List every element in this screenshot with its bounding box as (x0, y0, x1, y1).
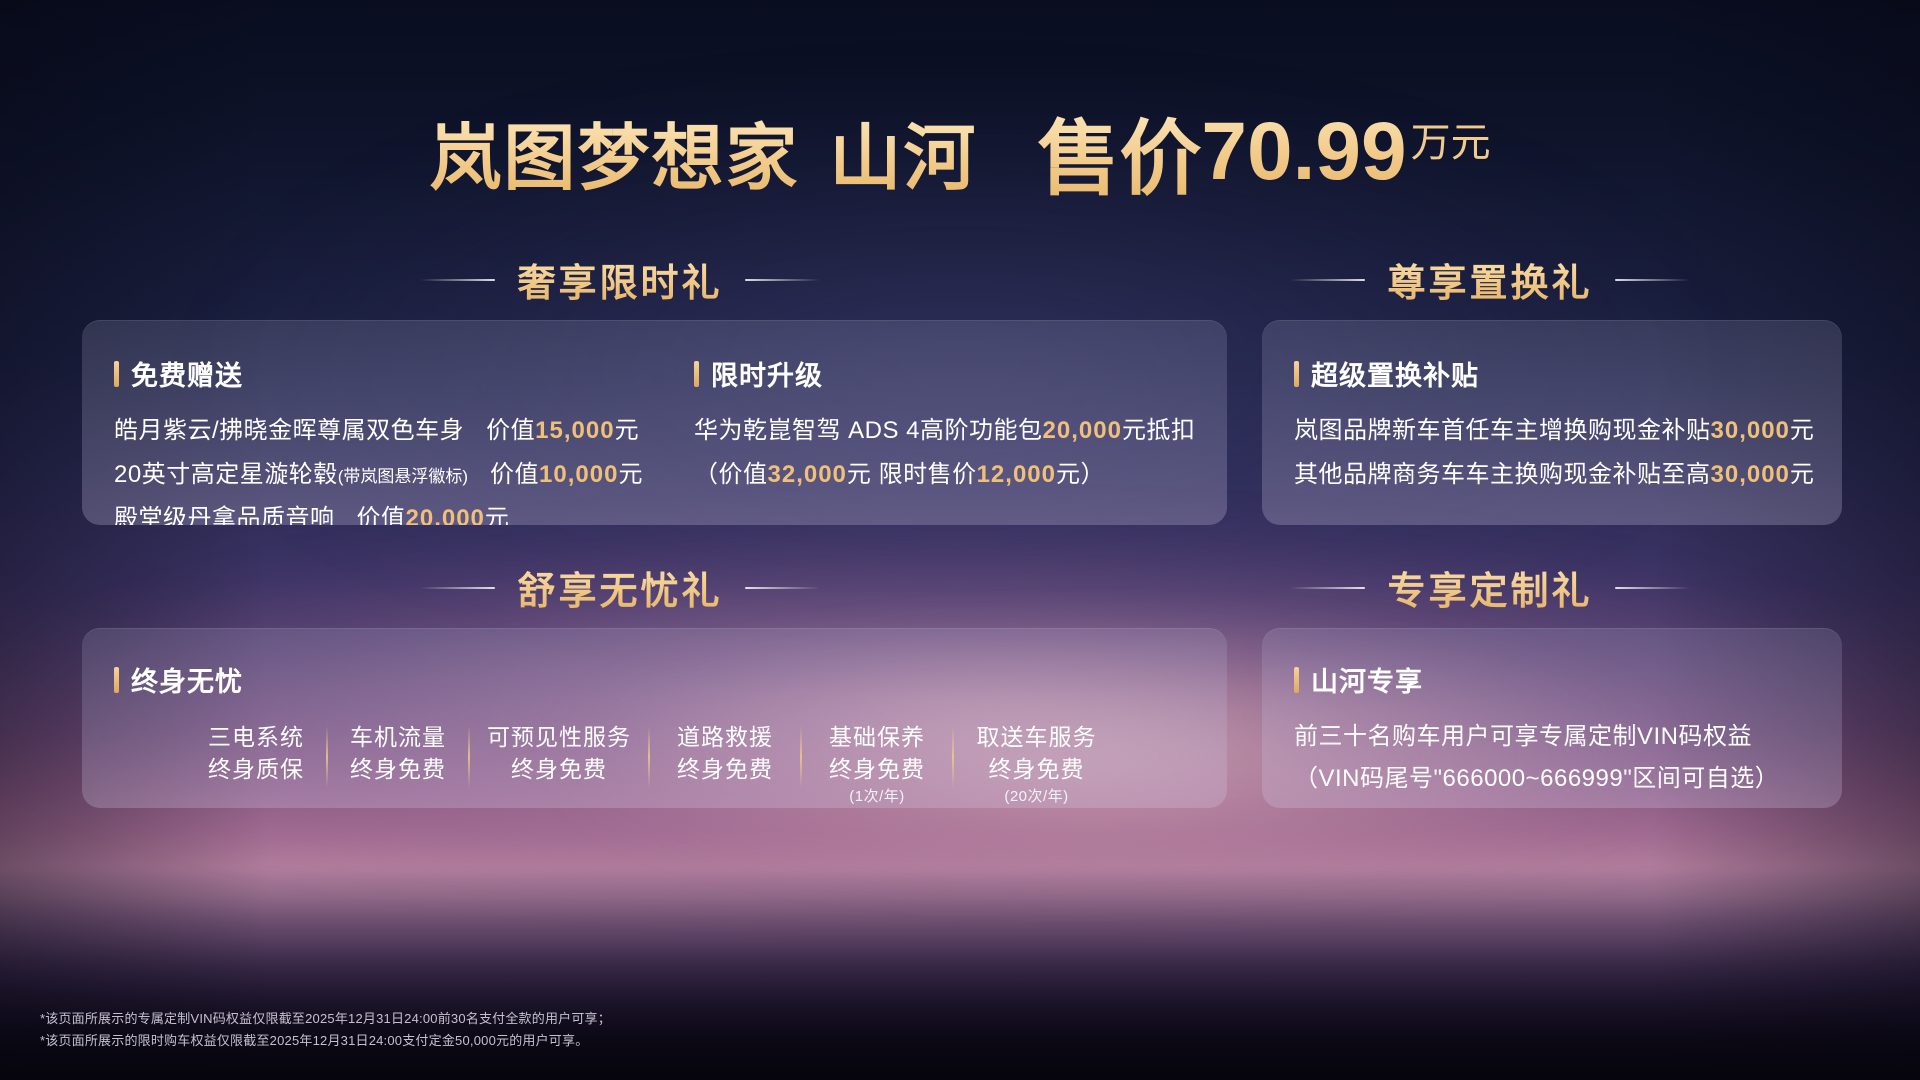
block-lifetime-carefree: 终身无忧 (114, 660, 243, 699)
block-title-row: 限时升级 (694, 354, 1195, 393)
benefit-text: （价值 (694, 461, 768, 488)
footnote-line: *该页面所展示的专属定制VIN码权益仅限截至2025年12月31日24:00前3… (40, 1008, 611, 1031)
benefit-unit: 元 (615, 417, 640, 444)
poster-root: 岚图梦想家山河售价70.99万元 奢享限时礼 尊享置换礼 舒享无忧礼 专享定制礼… (0, 0, 1920, 1080)
page-title: 岚图梦想家山河售价70.99万元 (0, 92, 1920, 211)
benefit-suffix: 元） (1056, 461, 1105, 488)
block-shanhe-exclusive: 山河专享 前三十名购车用户可享专属定制VIN码权益 （VIN码尾号"666000… (1294, 660, 1779, 791)
service-term: 终身质保 (186, 754, 326, 786)
service-term: 终身免费 (954, 754, 1119, 786)
block-title-row: 免费赠送 (114, 354, 643, 393)
title-edition: 山河 (829, 119, 977, 199)
accent-bar-icon (694, 361, 699, 387)
benefit-line: 岚图品牌新车首任车主增换购现金补贴30,000元 (1294, 419, 1814, 443)
service-name: 车机流量 (328, 722, 468, 754)
benefit-amount-secondary: 12,000 (977, 461, 1056, 488)
benefit-text: 其他品牌商务车车主换购现金补贴至高 (1294, 461, 1711, 488)
benefit-amount: 20,000 (1043, 417, 1122, 444)
block-limited-upgrade: 限时升级 华为乾崑智驾 ADS 4高阶功能包20,000元抵扣 （价值32,00… (694, 354, 1195, 487)
block-super-tradein-subsidy: 超级置换补贴 岚图品牌新车首任车主增换购现金补贴30,000元 其他品牌商务车车… (1294, 354, 1814, 487)
section-header-exclusive-tradein: 尊享置换礼 (1290, 252, 1690, 307)
benefit-suffix: 元 (1790, 417, 1815, 444)
block-free-gift: 免费赠送 皓月紫云/拂晓金晖尊属双色车身价值15,000元 20英寸高定星漩轮毂… (114, 354, 643, 525)
benefit-unit: 元 (618, 461, 643, 488)
section-title-text: 奢享限时礼 (517, 252, 722, 307)
service-name: 可预见性服务 (470, 722, 648, 754)
benefit-value-label: 价值 (357, 505, 406, 525)
title-price-unit: 万元 (1411, 121, 1491, 165)
accent-bar-icon (114, 667, 119, 693)
benefit-line: 前三十名购车用户可享专属定制VIN码权益 (1294, 725, 1779, 749)
service-column: 道路救援 终身免费 (650, 722, 800, 785)
service-frequency: (20次/年) (954, 785, 1119, 808)
accent-bar-icon (1294, 361, 1299, 387)
accent-bar-icon (114, 361, 119, 387)
divider-line-left (420, 279, 495, 281)
divider-line-left (1290, 587, 1365, 589)
section-title-text: 舒享无忧礼 (517, 560, 722, 615)
block-title-text: 终身无忧 (131, 660, 243, 699)
divider-line-right (1615, 279, 1690, 281)
benefit-line: 华为乾崑智驾 ADS 4高阶功能包20,000元抵扣 (694, 419, 1195, 443)
card-comfort-carefree: 终身无忧 三电系统 终身质保 车机流量 终身免费 可预见性服务 (82, 628, 1227, 808)
service-column-group: 三电系统 终身质保 车机流量 终身免费 可预见性服务 终身免费 (186, 722, 1119, 808)
benefit-text: 华为乾崑智驾 ADS 4高阶功能包 (694, 417, 1043, 444)
section-title-text: 尊享置换礼 (1387, 252, 1592, 307)
block-title-text: 免费赠送 (131, 354, 243, 393)
service-column: 取送车服务 终身免费 (20次/年) (954, 722, 1119, 808)
block-title-text: 山河专享 (1311, 660, 1423, 699)
service-term: 终身免费 (802, 754, 952, 786)
service-term: 终身免费 (328, 754, 468, 786)
benefit-text: 岚图品牌新车首任车主增换购现金补贴 (1294, 417, 1711, 444)
benefit-text: （VIN码尾号"666000~666999"区间可自选） (1294, 765, 1779, 792)
title-price-label: 售价 (1037, 114, 1201, 205)
service-term: 终身免费 (650, 754, 800, 786)
benefit-mid: 元 限时售价 (847, 461, 977, 488)
title-model: 岚图梦想家 (429, 119, 799, 199)
block-title-text: 限时升级 (711, 354, 823, 393)
benefit-text: 殿堂级丹拿品质音响 (114, 505, 335, 525)
benefit-amount: 15,000 (535, 417, 614, 444)
accent-bar-icon (1294, 667, 1299, 693)
benefit-note: (带岚图悬浮徽标) (338, 467, 468, 486)
benefit-suffix: 元抵扣 (1122, 417, 1196, 444)
benefit-amount: 30,000 (1711, 417, 1790, 444)
section-header-luxury-limited: 奢享限时礼 (420, 252, 820, 307)
benefit-text: 20英寸高定星漩轮毂 (114, 461, 338, 488)
benefit-line: （VIN码尾号"666000~666999"区间可自选） (1294, 767, 1779, 791)
section-title-text: 专享定制礼 (1387, 560, 1592, 615)
footnote-line: *该页面所展示的限时购车权益仅限截至2025年12月31日24:00支付定金50… (40, 1030, 611, 1053)
benefit-line: 殿堂级丹拿品质音响价值20,000元 (114, 507, 643, 525)
divider-line-right (1615, 587, 1690, 589)
benefit-amount: 10,000 (539, 461, 618, 488)
benefit-suffix: 元 (1790, 461, 1815, 488)
divider-line-right (745, 587, 820, 589)
benefit-text: 皓月紫云/拂晓金晖尊属双色车身 (114, 417, 464, 444)
benefit-text: 前三十名购车用户可享专属定制VIN码权益 (1294, 723, 1752, 750)
card-luxury-limited: 免费赠送 皓月紫云/拂晓金晖尊属双色车身价值15,000元 20英寸高定星漩轮毂… (82, 320, 1227, 525)
divider-line-left (420, 587, 495, 589)
divider-line-right (745, 279, 820, 281)
benefit-amount: 20,000 (406, 505, 485, 525)
service-name: 三电系统 (186, 722, 326, 754)
card-bespoke-exclusive: 山河专享 前三十名购车用户可享专属定制VIN码权益 （VIN码尾号"666000… (1262, 628, 1842, 808)
service-name: 基础保养 (802, 722, 952, 754)
benefit-line: 其他品牌商务车车主换购现金补贴至高30,000元 (1294, 463, 1814, 487)
title-price-value: 70.99 (1201, 106, 1406, 197)
service-name: 道路救援 (650, 722, 800, 754)
service-term: 终身免费 (470, 754, 648, 786)
benefit-value-label: 价值 (486, 417, 535, 444)
service-column: 车机流量 终身免费 (328, 722, 468, 785)
section-header-bespoke-exclusive: 专享定制礼 (1290, 560, 1690, 615)
benefit-line: 皓月紫云/拂晓金晖尊属双色车身价值15,000元 (114, 419, 643, 443)
section-header-comfort-carefree: 舒享无忧礼 (420, 560, 820, 615)
benefit-unit: 元 (485, 505, 510, 525)
benefit-amount: 32,000 (768, 461, 847, 488)
block-title-row: 山河专享 (1294, 660, 1779, 699)
benefit-value-label: 价值 (490, 461, 539, 488)
service-name: 取送车服务 (954, 722, 1119, 754)
benefit-line: （价值32,000元 限时售价12,000元） (694, 463, 1195, 487)
benefit-line: 20英寸高定星漩轮毂(带岚图悬浮徽标)价值10,000元 (114, 463, 643, 487)
divider-line-left (1290, 279, 1365, 281)
service-column: 三电系统 终身质保 (186, 722, 326, 785)
card-exclusive-tradein: 超级置换补贴 岚图品牌新车首任车主增换购现金补贴30,000元 其他品牌商务车车… (1262, 320, 1842, 525)
block-title-text: 超级置换补贴 (1311, 354, 1479, 393)
footnotes: *该页面所展示的专属定制VIN码权益仅限截至2025年12月31日24:00前3… (40, 1008, 611, 1054)
block-title-row: 超级置换补贴 (1294, 354, 1814, 393)
service-column: 可预见性服务 终身免费 (470, 722, 648, 785)
block-title-row: 终身无忧 (114, 660, 243, 699)
service-column: 基础保养 终身免费 (1次/年) (802, 722, 952, 808)
service-frequency: (1次/年) (802, 785, 952, 808)
benefit-amount: 30,000 (1711, 461, 1790, 488)
